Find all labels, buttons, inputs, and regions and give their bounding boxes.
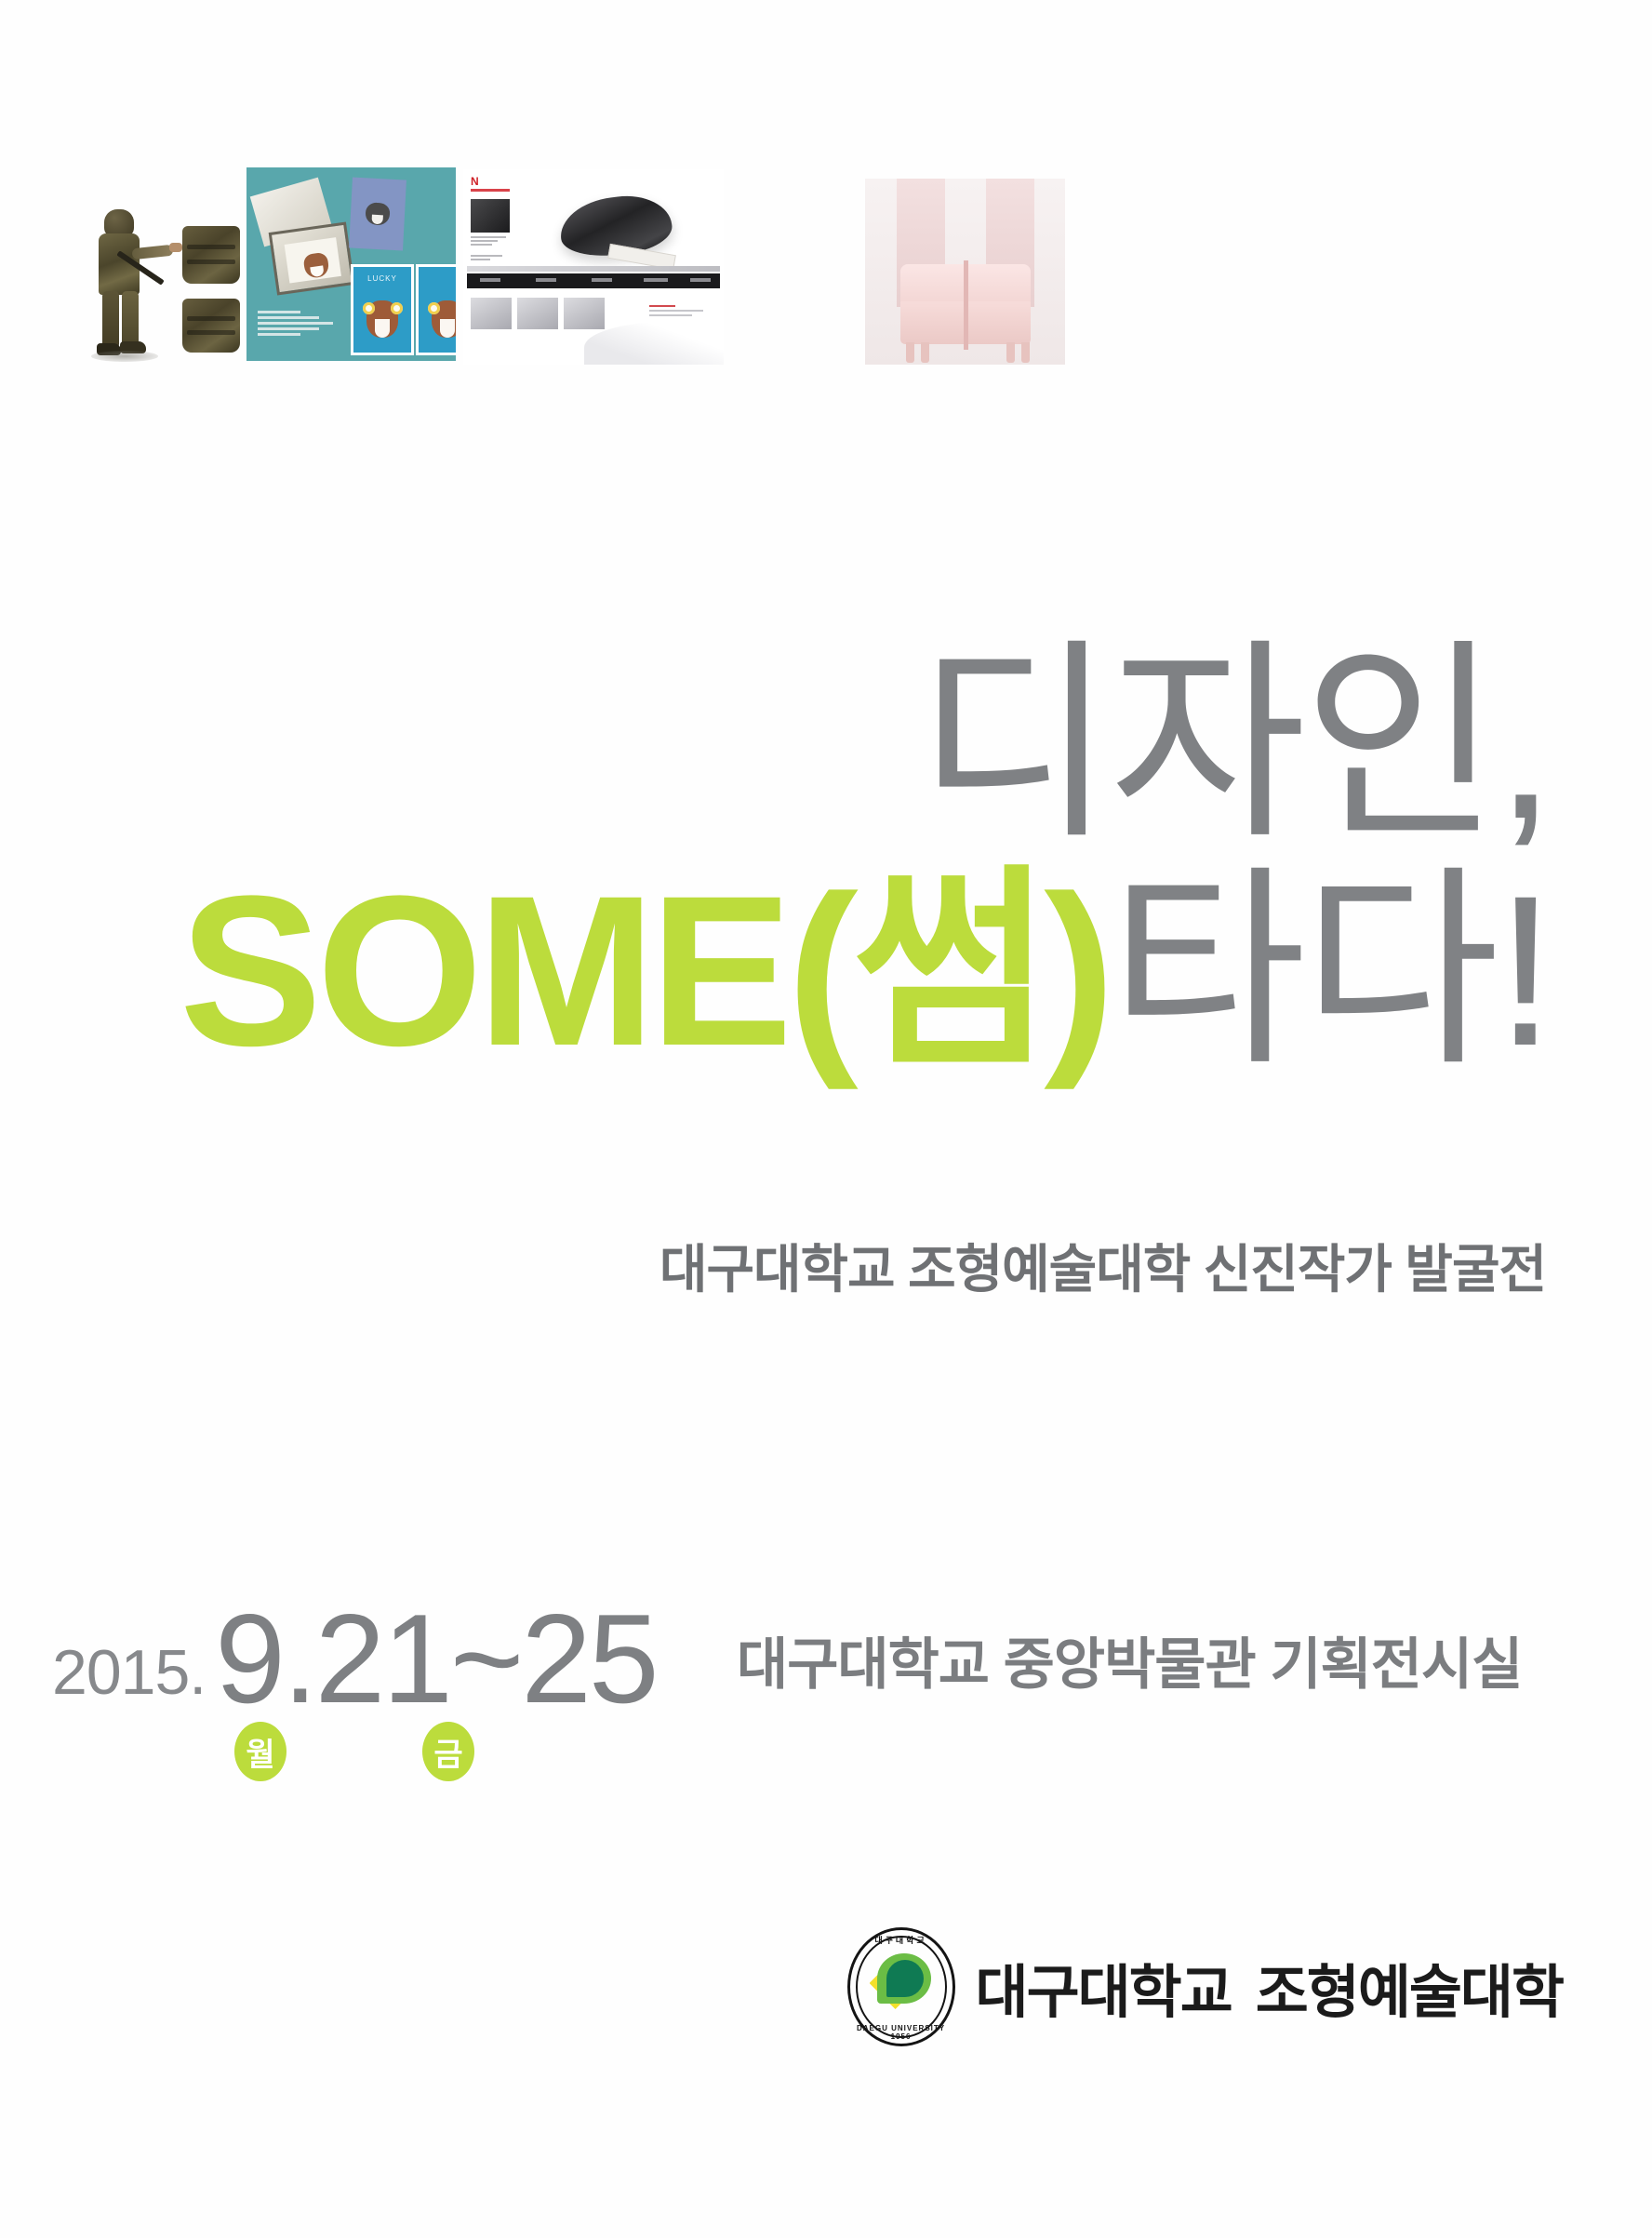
product-caption-a [471,236,510,247]
sofa-leg-3 [1006,342,1015,363]
poster-headline: 디자인, SOME(썸)타다! [0,642,1652,1080]
webpage-decorative-swoosh [584,322,724,365]
beagle-illustration [366,300,398,338]
emblem-dark-green-core [886,1960,924,1997]
thumbnail-goggles-webpage: N [463,169,724,365]
headline-line-1: 디자인, [0,642,1552,847]
sofa-leg-1 [906,342,914,363]
footer-university-name: 대구대학교 [976,1961,1232,2025]
webpage-nav-highlight [467,266,720,272]
footer-organisation: 대구대학교조형예술대학 [976,1945,1563,2029]
soldier-shadow [91,351,158,362]
headline-accent-word: SOME(썸) [180,851,1110,1090]
sofa-center-split [964,260,968,350]
grid-thumb-3 [564,298,605,329]
soldier-hand [169,243,182,252]
beagle-illustration-2 [432,300,456,338]
soldier-figure-icon [91,209,149,356]
webpage-footer-text [649,305,709,319]
info-band: 2015. 9.21~25 월 금 대구대학교 중앙박물관 기획전시실 [52,1595,1615,1809]
soldier-leg-left [102,291,119,349]
postcard-caption-lines [258,311,336,339]
exhibition-date-group: 2015. 9.21~25 [52,1595,657,1722]
poster-canvas: LUCKY N [0,0,1652,2238]
daegu-university-seal-icon: 대구대학교 DAEGU UNIVERSITY 1956 [847,1927,955,2046]
gift-box-base [269,221,355,295]
exhibition-venue: 대구대학교 중앙박물관 기획전시실 [737,1619,1522,1700]
dog-face-illustration [365,202,390,225]
thumbnail-dog-postcards: LUCKY [246,167,456,361]
seal-top-label: 대구대학교 [847,1934,955,1946]
gift-box-inner [285,237,341,283]
headline-tail-word: 타다! [1110,851,1552,1090]
postcard-secondary [416,264,456,355]
sofa-leg-2 [921,342,929,363]
brand-logo-text: N [471,175,479,188]
flower-left-icon [363,302,375,314]
brand-logo-underline [471,189,510,192]
poster-subtitle: 대구대학교 조형예술대학 신진작가 발굴전 [0,1228,1652,1303]
postcard-label: LUCKY [353,274,411,283]
weekday-badge-start: 월 [234,1722,286,1781]
webpage-thumbnail-grid [471,298,605,329]
exhibition-year: 2015. [52,1636,206,1722]
product-caption-b [471,255,510,262]
seal-bottom-label: DAEGU UNIVERSITY 1956 [847,2024,955,2041]
tactical-vest-front [182,226,240,284]
beagle-snout [379,319,386,326]
mini-dog-illustration [302,252,329,279]
grid-thumb-1 [471,298,512,329]
footer-college-name: 조형예술대학 [1256,1961,1563,2025]
webpage-navbar [467,273,720,288]
seal-emblem-shape [870,1953,933,2018]
standing-card [349,178,406,251]
poster-footer: 대구대학교 DAEGU UNIVERSITY 1956 대구대학교조형예술대학 [0,1927,1652,2046]
grid-thumb-2 [517,298,558,329]
thumbnail-strip: LUCKY N [0,0,1652,465]
flower-left-icon-2 [428,302,440,314]
soldier-leg-right [122,291,139,349]
headline-line-2: SOME(썸)타다! [0,862,1552,1081]
weekday-badge-end: 금 [422,1722,474,1781]
tactical-vest-back [182,299,240,353]
exhibition-date-range: 9.21~25 [206,1595,656,1722]
beagle-snout-2 [444,319,451,326]
product-thumbnail-square [471,199,510,233]
thumbnail-pink-furniture [865,179,1065,365]
sofa-leg-4 [1021,342,1030,363]
flower-right-icon [391,302,403,314]
postcard-lucky: LUCKY [351,264,414,355]
